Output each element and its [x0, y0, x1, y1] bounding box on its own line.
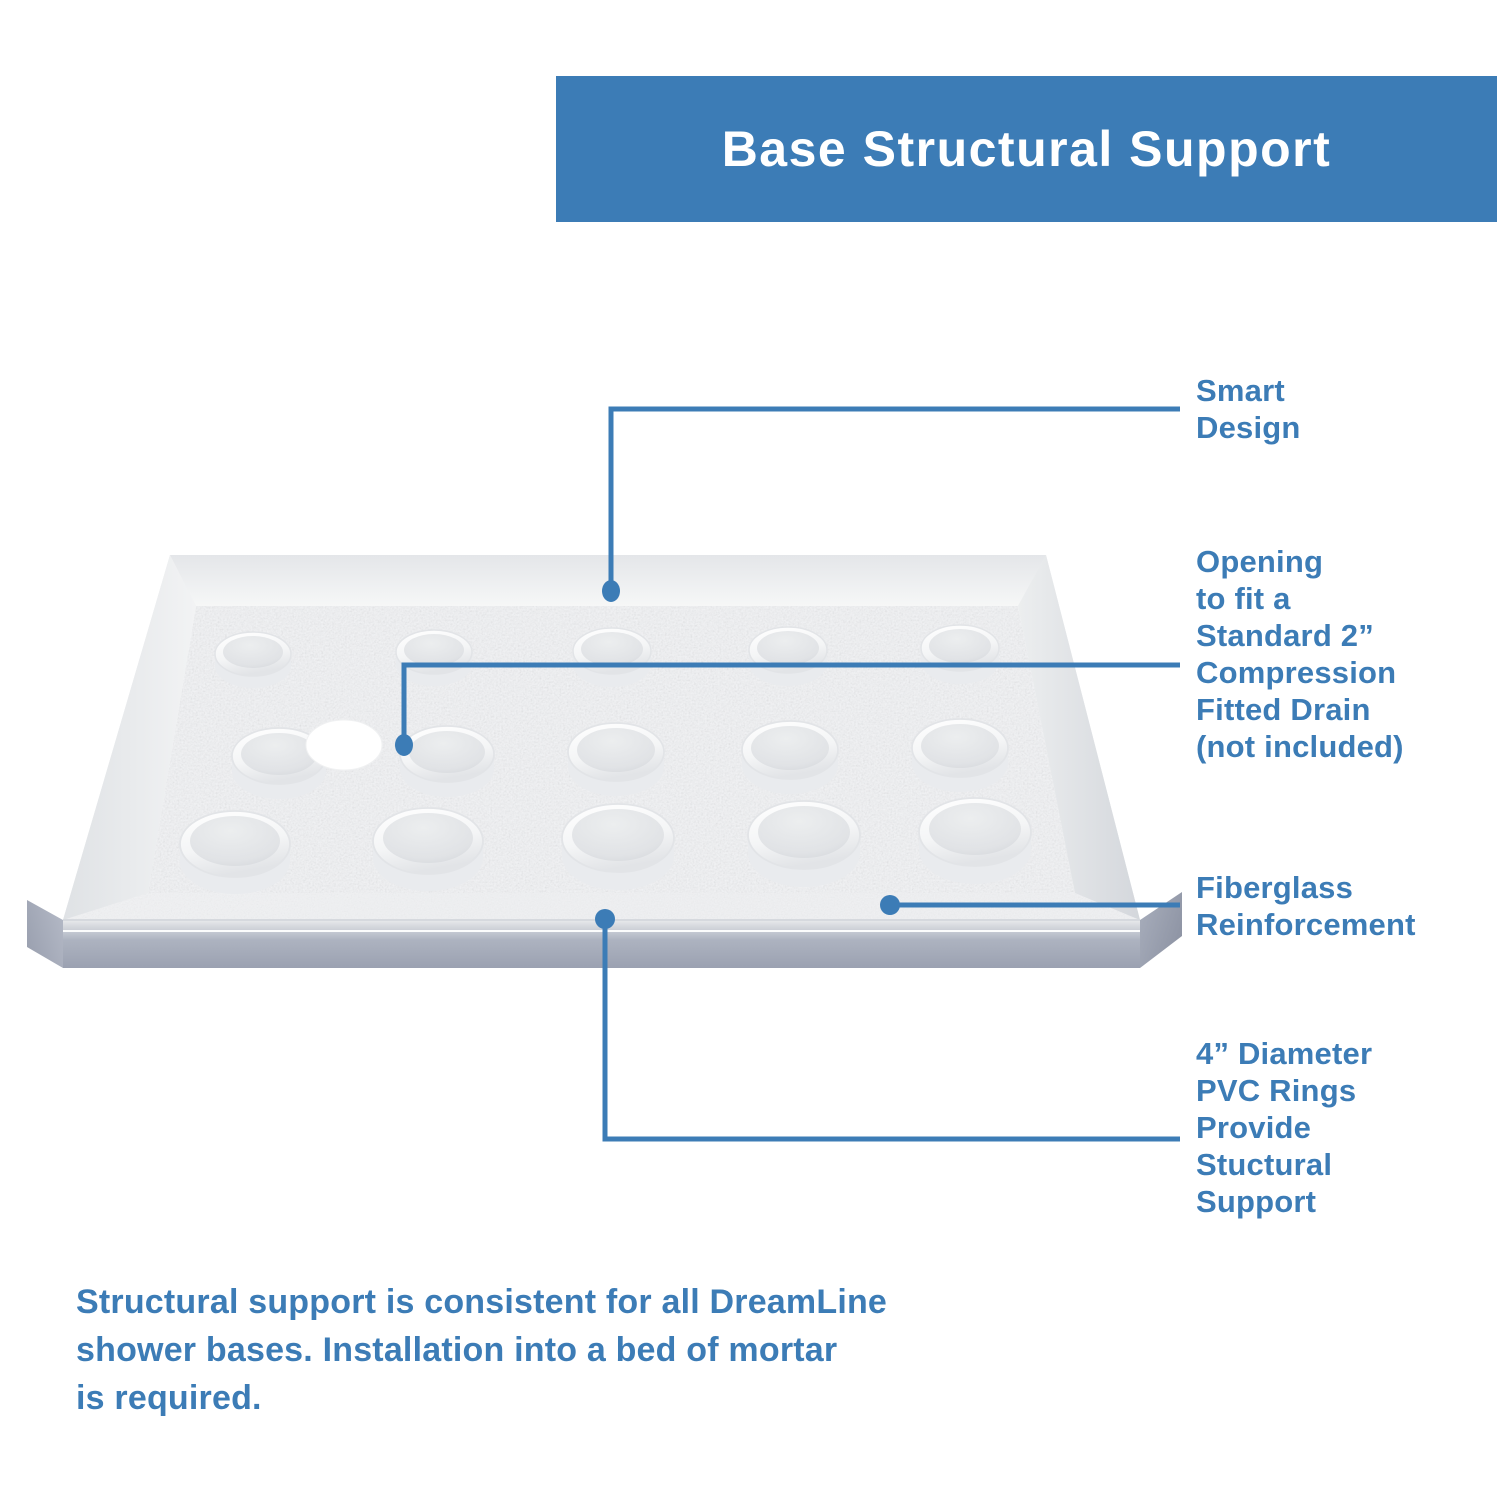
callout-label-pvc-rings: 4” Diameter PVC Rings Provide Stuctural … — [1196, 1035, 1372, 1220]
header-banner: Base Structural Support — [556, 76, 1497, 222]
callout-label-drain-opening: Opening to fit a Standard 2” Compression… — [1196, 543, 1404, 765]
pvc-ring — [748, 801, 860, 887]
callout-label-fiberglass: Fiberglass Reinforcement — [1196, 869, 1416, 943]
callout-label-smart-design: Smart Design — [1196, 372, 1301, 446]
page-title: Base Structural Support — [722, 120, 1332, 178]
drain-opening — [306, 720, 382, 770]
pvc-ring — [742, 721, 838, 794]
base-right-apron — [1140, 892, 1182, 968]
rim-inner-back — [170, 555, 1046, 606]
pvc-ring — [396, 630, 472, 686]
infographic-page: Base Structural Support — [0, 0, 1500, 1500]
pvc-ring — [912, 719, 1008, 792]
pvc-ring — [921, 625, 999, 684]
pvc-ring — [373, 808, 483, 891]
pvc-ring — [568, 723, 664, 796]
pvc-ring — [919, 798, 1031, 884]
base-front-apron — [63, 932, 1140, 968]
pvc-ring — [180, 811, 290, 894]
pvc-ring — [749, 627, 827, 686]
shower-base-illustration — [0, 500, 1200, 1020]
pvc-ring — [562, 804, 674, 890]
pvc-ring — [400, 726, 494, 797]
base-left-apron — [27, 900, 63, 968]
pvc-ring — [573, 628, 651, 687]
footer-note: Structural support is consistent for all… — [76, 1278, 996, 1422]
pvc-ring — [215, 632, 291, 688]
